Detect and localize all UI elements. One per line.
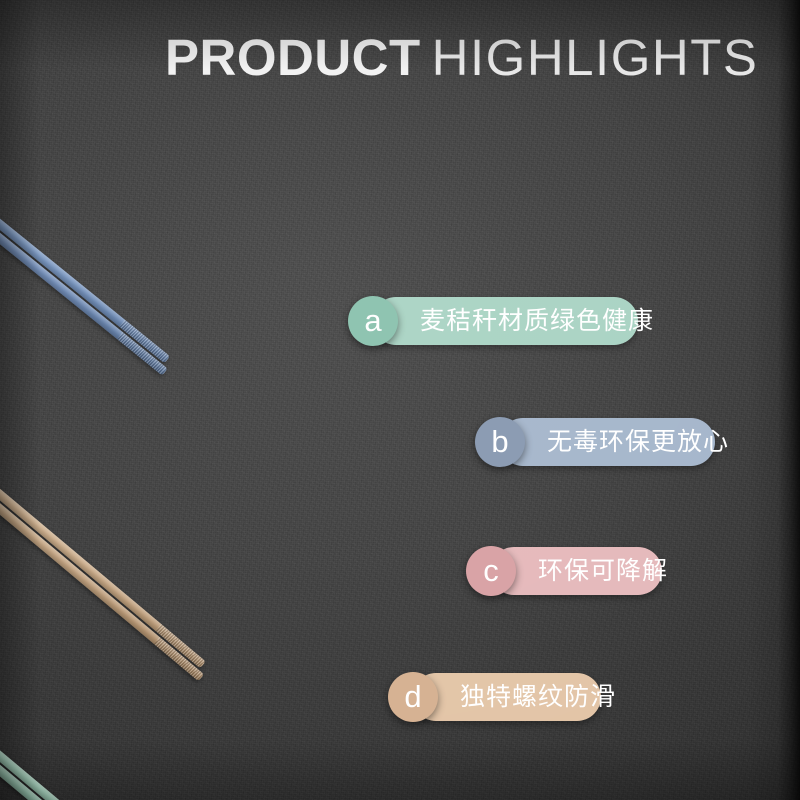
feature-letter-a: a (364, 305, 381, 336)
feature-letter-c: c (483, 555, 499, 586)
feature-marker-b[interactable]: b (475, 417, 525, 467)
feature-marker-a[interactable]: a (348, 296, 398, 346)
product-highlights-poster: PRODUCTHIGHLIGHTS 麦秸秆材质绿色健康 a 无毒环保更放心 b … (0, 0, 800, 800)
feature-letter-b: b (491, 426, 508, 457)
feature-marker-d[interactable]: d (388, 672, 438, 722)
feature-letter-d: d (404, 681, 421, 712)
feature-marker-c[interactable]: c (466, 546, 516, 596)
